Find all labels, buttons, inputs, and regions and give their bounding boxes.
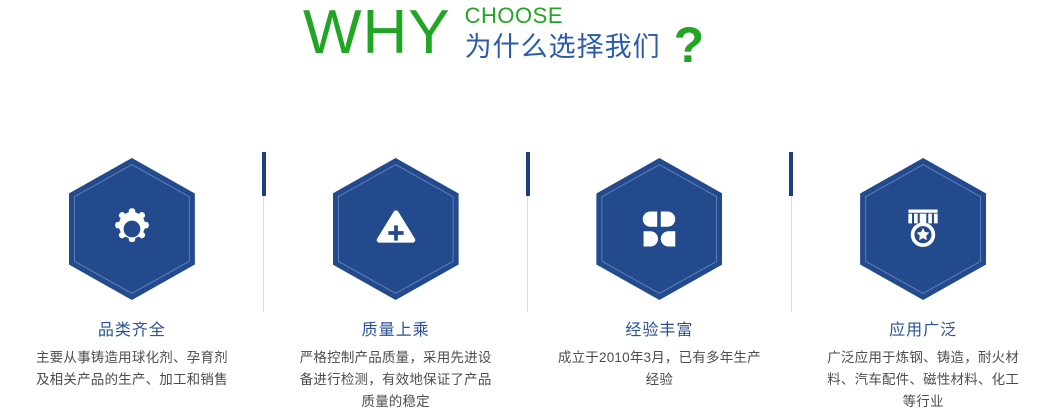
card-title: 经验丰富 (625, 321, 693, 341)
card-description: 广泛应用于炼钢、铸造，耐火材料、汽车配件、磁性材料、化工等行业 (821, 347, 1026, 413)
medal-icon (897, 203, 949, 255)
card-description: 主要从事铸造用球化剂、孕育剂及相关产品的生产、加工和销售 (29, 347, 234, 391)
triangle-plus-icon (370, 203, 422, 255)
heading-chinese-title: 为什么选择我们 (465, 30, 661, 64)
question-mark-icon: ? (674, 2, 705, 70)
card-title: 品类齐全 (98, 321, 166, 341)
feature-card[interactable]: 品类齐全 主要从事铸造用球化剂、孕育剂及相关产品的生产、加工和销售 (0, 150, 264, 416)
section-heading: WHY CHOOSE 为什么选择我们 ? (0, 0, 1055, 92)
hexagon-badge (69, 158, 195, 300)
hexagon-badge (596, 158, 722, 300)
feature-card[interactable]: 应用广泛 广泛应用于炼钢、铸造，耐火材料、汽车配件、磁性材料、化工等行业 (791, 150, 1055, 416)
card-title: 应用广泛 (889, 321, 957, 341)
feature-card[interactable]: 质量上乘 严格控制产品质量，采用先进设备进行检测，有效地保证了产品质量的稳定 (264, 150, 528, 416)
why-choose-us-section: WHY CHOOSE 为什么选择我们 ? 品类齐全 主要从事铸造用球化剂、孕育剂… (0, 0, 1055, 416)
heading-choose: CHOOSE (465, 4, 661, 28)
card-title: 质量上乘 (362, 321, 430, 341)
feature-cards-row: 品类齐全 主要从事铸造用球化剂、孕育剂及相关产品的生产、加工和销售 质量上乘 (0, 150, 1055, 416)
card-description: 成立于2010年3月，已有多年生产经验 (557, 347, 762, 391)
hexagon-badge (333, 158, 459, 300)
feature-card[interactable]: 经验丰富 成立于2010年3月，已有多年生产经验 (528, 150, 792, 416)
clover-icon (633, 203, 685, 255)
card-description: 严格控制产品质量，采用先进设备进行检测，有效地保证了产品质量的稳定 (293, 347, 498, 413)
heading-why: WHY (303, 2, 451, 64)
heading-text-block: CHOOSE 为什么选择我们 (465, 2, 661, 64)
hexagon-badge (860, 158, 986, 300)
gear-icon (106, 203, 158, 255)
